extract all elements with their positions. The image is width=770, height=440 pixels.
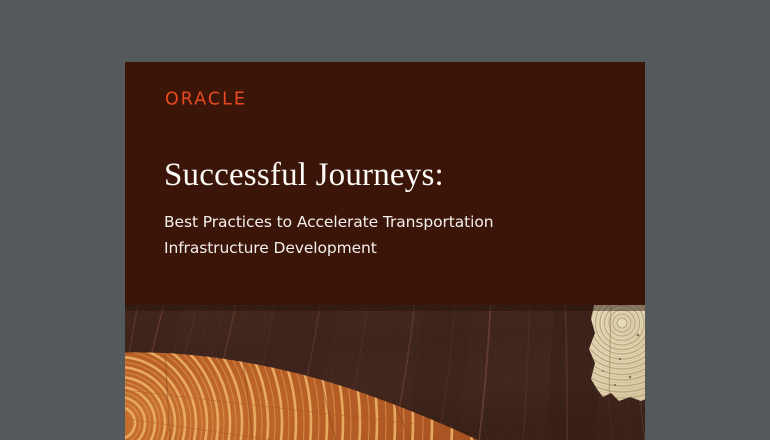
cover-subtitle: Best Practices to Accelerate Transportat… (164, 209, 564, 261)
cover-subtitle-line-1: Best Practices to Accelerate Transportat… (164, 209, 564, 235)
oracle-wordmark-text: ORACLE (165, 91, 247, 108)
screenshot-root: ORACLE Successful Journeys: Best Practic… (0, 0, 770, 440)
cover-header-panel: ORACLE Successful Journeys: Best Practic… (125, 62, 645, 305)
cover-title: Successful Journeys: (164, 156, 624, 194)
cover-subtitle-line-2: Infrastructure Development (164, 235, 564, 261)
wood-grain-illustration (125, 305, 645, 440)
ebook-cover-card[interactable]: ORACLE Successful Journeys: Best Practic… (125, 62, 645, 440)
oracle-logo: ORACLE (165, 91, 247, 108)
cover-photo-wood-grain (125, 305, 645, 440)
